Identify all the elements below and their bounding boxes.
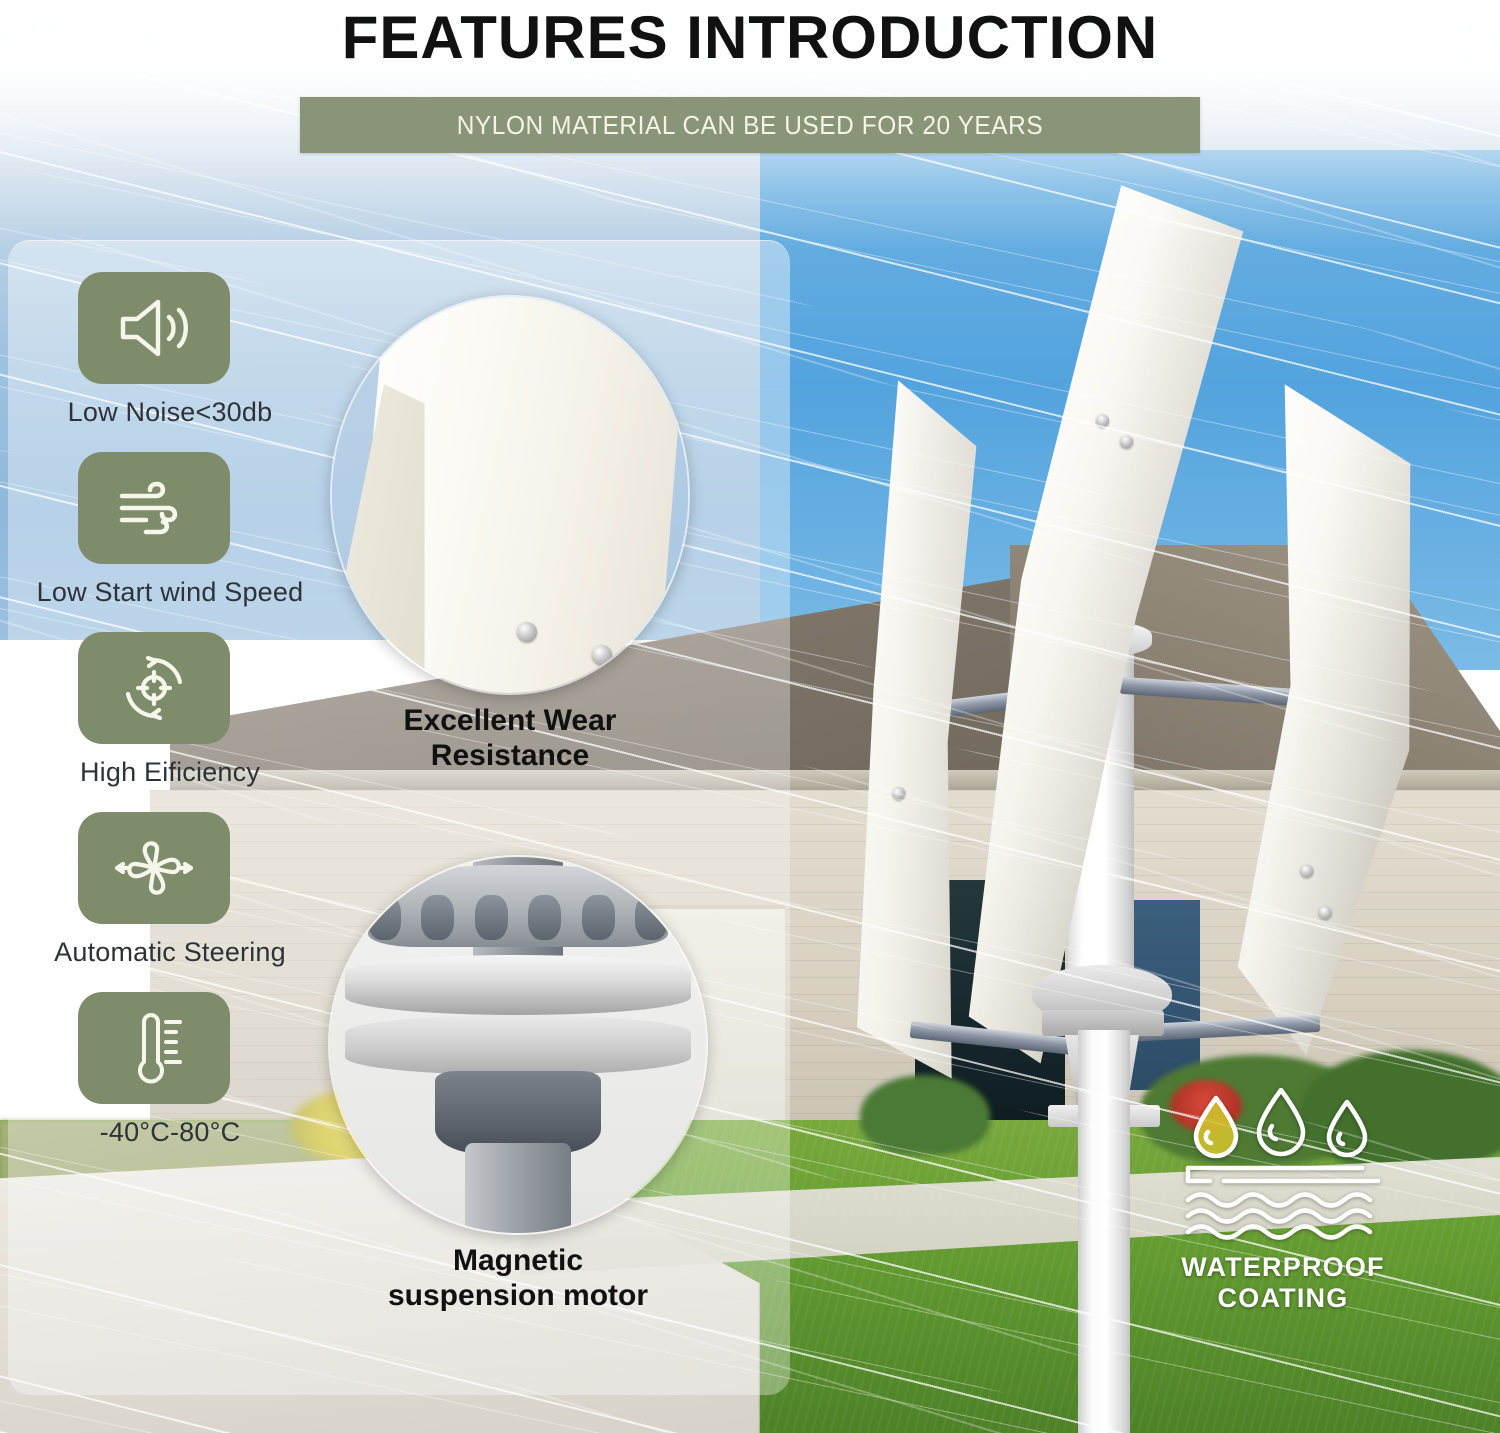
icon-tile xyxy=(78,992,230,1104)
closeup-magnetic-ring xyxy=(345,955,691,1015)
subtitle-banner: NYLON MATERIAL CAN BE USED FOR 20 YEARS xyxy=(300,97,1200,153)
feature-item-high-efficiency: High Eificiency xyxy=(22,632,322,788)
feature-label: Low Noise<30db xyxy=(22,397,318,428)
bolt xyxy=(421,895,454,940)
feature-item-low-start-wind-speed: Low Start wind Speed xyxy=(22,452,322,608)
icon-tile xyxy=(78,812,230,924)
bolt xyxy=(528,895,561,940)
closeup-magnetic-ring xyxy=(345,1015,691,1075)
bolt xyxy=(475,895,508,940)
waterproof-line2: COATING xyxy=(1218,1283,1349,1313)
speaker-volume-icon xyxy=(117,297,191,359)
callout-caption-line1: Excellent Wear xyxy=(404,704,617,737)
turbine-arm xyxy=(1120,677,1301,707)
icon-tile xyxy=(78,632,230,744)
turbine-blade xyxy=(1191,368,1450,1063)
wind-icon xyxy=(116,479,192,537)
rotation-target-icon xyxy=(118,652,190,724)
motor-closeup-circle xyxy=(328,855,708,1235)
header: FEATURES INTRODUCTION NYLON MATERIAL CAN… xyxy=(0,0,1500,165)
waterproof-line1: WATERPROOF xyxy=(1181,1252,1385,1282)
page-title: FEATURES INTRODUCTION xyxy=(0,2,1500,74)
blade-closeup-circle xyxy=(330,295,690,695)
feature-item-automatic-steering: Automatic Steering xyxy=(22,812,322,968)
feature-list: Low Noise<30db Low Start wind Speed xyxy=(22,272,322,1172)
callout-caption: Magnetic suspension motor xyxy=(328,1243,708,1313)
callout-caption-line2: Resistance xyxy=(431,739,589,772)
callout-magnetic-suspension-motor: Magnetic suspension motor xyxy=(328,855,708,1313)
feature-label: High Eificiency xyxy=(22,757,318,788)
fan-rotation-icon xyxy=(114,835,194,901)
blade-shading xyxy=(1191,368,1450,1063)
thermometer-icon xyxy=(122,1010,186,1086)
icon-tile xyxy=(78,272,230,384)
waterproof-droplets-waves-icon xyxy=(1168,1088,1398,1248)
waterproof-coating-badge: WATERPROOF COATING xyxy=(1168,1088,1398,1314)
bolt xyxy=(368,895,401,940)
bolt xyxy=(635,895,668,940)
subtitle-text: NYLON MATERIAL CAN BE USED FOR 20 YEARS xyxy=(457,110,1044,141)
feature-label: -40°C-80°C xyxy=(22,1117,318,1148)
closeup-bolt-row xyxy=(368,895,669,940)
callout-excellent-wear-resistance: Excellent Wear Resistance xyxy=(330,295,690,773)
blade-screw xyxy=(517,622,537,642)
feature-item-temperature-range: -40°C-80°C xyxy=(22,992,322,1148)
turbine-pole xyxy=(1078,1030,1130,1433)
feature-item-low-noise: Low Noise<30db xyxy=(22,272,322,428)
bolt xyxy=(582,895,615,940)
callout-caption: Excellent Wear Resistance xyxy=(330,703,690,773)
closeup-rotor-boss xyxy=(435,1071,600,1154)
closeup-shaft-lower xyxy=(465,1143,570,1233)
icon-tile xyxy=(78,452,230,564)
waterproof-badge-text: WATERPROOF COATING xyxy=(1168,1252,1398,1314)
feature-label: Low Start wind Speed xyxy=(22,577,318,608)
feature-label: Automatic Steering xyxy=(22,937,318,968)
callout-caption-line1: Magnetic xyxy=(453,1244,583,1277)
callout-caption-line2: suspension motor xyxy=(388,1279,648,1312)
